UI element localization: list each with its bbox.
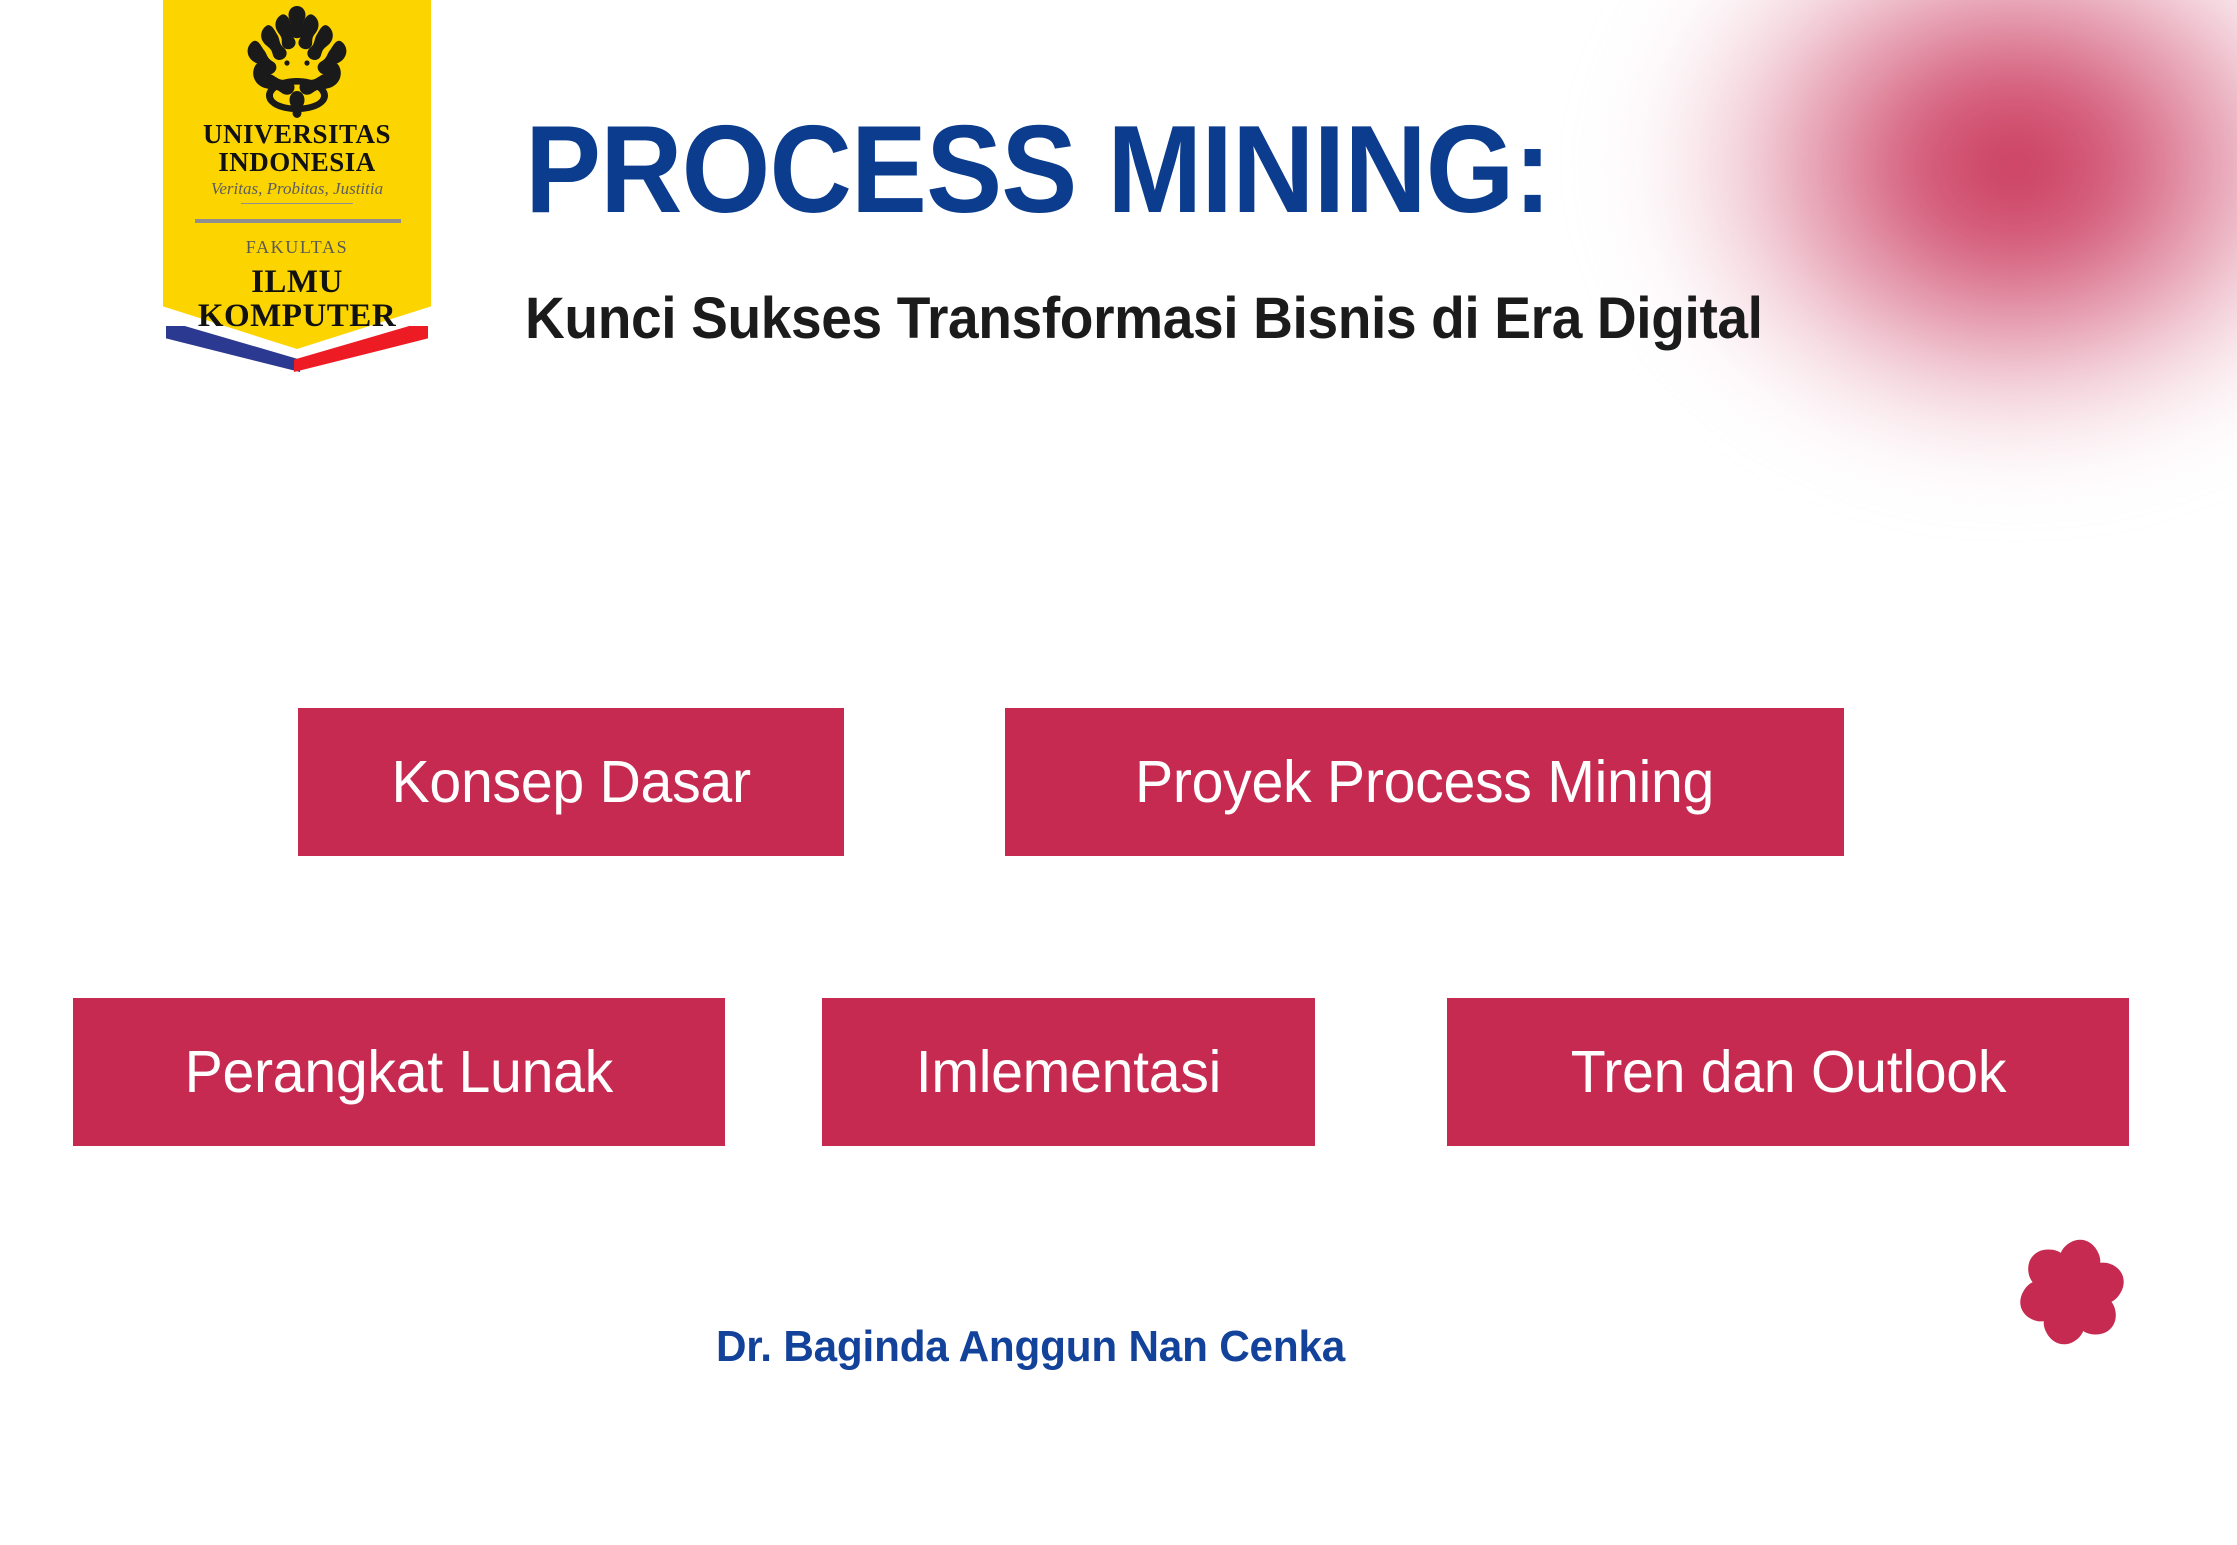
topic-label: Perangkat Lunak: [185, 1043, 613, 1102]
page-title: PROCESS MINING:: [525, 108, 1551, 232]
topic-label: Proyek Process Mining: [1135, 753, 1714, 812]
page-subtitle: Kunci Sukses Transformasi Bisnis di Era …: [525, 290, 1763, 348]
presenter-name: Dr. Baginda Anggun Nan Cenka: [716, 1322, 1345, 1372]
pinwheel-flower-icon: [2013, 1233, 2131, 1351]
pink-gradient-blob: [1547, 0, 2237, 500]
logo-divider-thick: [195, 219, 401, 223]
logo-university-name: UNIVERSITAS INDONESIA: [163, 120, 431, 176]
topic-box-imlementasi[interactable]: Imlementasi: [822, 998, 1315, 1146]
logo-divider-thin: [241, 203, 353, 204]
topic-label: Konsep Dasar: [391, 753, 750, 812]
logo-motto: Veritas, Probitas, Justitia: [163, 179, 431, 199]
topic-box-konsep-dasar[interactable]: Konsep Dasar: [298, 708, 844, 856]
topic-box-proyek-process-mining[interactable]: Proyek Process Mining: [1005, 708, 1844, 856]
logo-faculty-prefix: FAKULTAS: [163, 237, 431, 258]
logo-faculty-name: ILMU KOMPUTER: [163, 266, 431, 333]
makara-ui-crest-icon: [231, 2, 363, 120]
topic-box-tren-dan-outlook[interactable]: Tren dan Outlook: [1447, 998, 2129, 1146]
topic-label: Imlementasi: [916, 1043, 1221, 1102]
topic-box-perangkat-lunak[interactable]: Perangkat Lunak: [73, 998, 725, 1146]
university-logo-banner: UNIVERSITAS INDONESIA Veritas, Probitas,…: [163, 0, 431, 372]
topic-label: Tren dan Outlook: [1570, 1043, 2005, 1102]
